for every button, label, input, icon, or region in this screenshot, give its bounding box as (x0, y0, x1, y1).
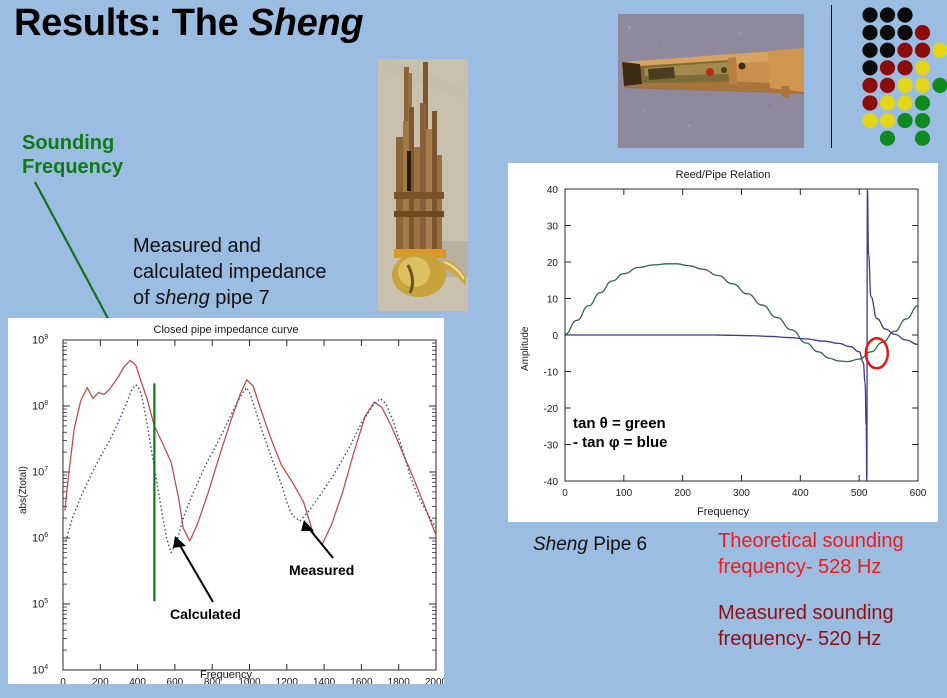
y-tick-label: 10 (547, 295, 559, 306)
logo-dot (880, 95, 895, 110)
x-tick-label: 500 (851, 488, 868, 499)
logo-dot (897, 25, 912, 40)
logo-dot (897, 60, 912, 75)
logo-dot (915, 95, 930, 110)
y-tick-label: 20 (547, 258, 559, 269)
logo-dot (862, 43, 877, 58)
y-tick-label: 0 (552, 331, 558, 342)
sounding-frequency-callout: Sounding Frequency (22, 132, 123, 179)
logo-dot (915, 113, 930, 128)
sounding-frequency-line1: Sounding (22, 132, 123, 156)
sheng-pipe-rest: Pipe 6 (588, 534, 647, 555)
y-tick-label: -10 (544, 368, 559, 379)
x-tick-label: 1000 (238, 677, 261, 684)
x-tick-label: 600 (910, 488, 927, 499)
x-tick-label: 100 (615, 488, 632, 499)
x-tick-label: 1200 (276, 677, 299, 684)
x-tick-label: 300 (733, 488, 750, 499)
vertical-divider (831, 5, 832, 148)
impedance-caption: Measured and calculated impedance of she… (133, 234, 326, 311)
x-tick-label: 1400 (313, 677, 336, 684)
y-tick-label: 40 (547, 185, 559, 196)
data-series-line (66, 385, 436, 553)
y-tick-label: -40 (544, 477, 559, 488)
logo-dot (862, 60, 877, 75)
logo-dot (897, 95, 912, 110)
logo-dot (897, 7, 912, 22)
data-series-line (565, 264, 918, 362)
logo-dot (880, 131, 895, 146)
logo-dot (862, 7, 877, 22)
impedance-caption-line2: calculated impedance (133, 260, 326, 286)
logo-dot (880, 113, 895, 128)
data-series-line (65, 360, 436, 544)
logo-dot (897, 78, 912, 93)
sounding-frequency-line2: Frequency (22, 156, 123, 180)
x-tick-label: 800 (204, 677, 221, 684)
logo-dot (915, 43, 930, 58)
logo-dot (880, 60, 895, 75)
measured-line2: frequency- 520 Hz (718, 626, 894, 652)
impedance-caption-line3: of sheng pipe 7 (133, 286, 326, 312)
theoretical-frequency-text: Theoretical sounding frequency- 528 Hz (718, 528, 904, 580)
x-tick-label: 200 (92, 677, 109, 684)
x-tick-label: 0 (60, 677, 66, 684)
impedance-caption-line1: Measured and (133, 234, 326, 260)
logo-dot (897, 43, 912, 58)
caption-line3-prefix: of (133, 287, 155, 309)
x-tick-label: 600 (167, 677, 184, 684)
data-series-line (565, 189, 918, 481)
x-tick-label: 400 (792, 488, 809, 499)
logo-dot (915, 25, 930, 40)
presentation-slide: Results: The Sheng Sounding Frequency Me… (0, 0, 947, 698)
sheng-pipe-caption: Sheng Pipe 6 (533, 534, 647, 556)
logo-dot (880, 78, 895, 93)
chart-left-plot: 0200400600800100012001400160018002000 (8, 318, 444, 684)
dot-grid-logo (862, 6, 947, 152)
theoretical-line2: frequency- 528 Hz (718, 554, 904, 580)
y-tick-label: -20 (544, 404, 559, 415)
logo-dot (880, 25, 895, 40)
intersection-marker-circle (866, 338, 888, 368)
x-tick-label: 400 (129, 677, 146, 684)
page-title: Results: The Sheng (14, 2, 363, 45)
measured-frequency-text: Measured sounding frequency- 520 Hz (718, 600, 894, 652)
theoretical-line1: Theoretical sounding (718, 528, 904, 554)
logo-dot (880, 43, 895, 58)
logo-dot (915, 131, 930, 146)
reed-pipe-relation-chart: Reed/Pipe Relation Amplitude Frequency t… (508, 163, 938, 522)
sheng-pipe-italic: Sheng (533, 534, 588, 555)
caption-line3-suffix: pipe 7 (210, 287, 270, 309)
y-tick-label: -30 (544, 441, 559, 452)
sheng-instrument-photo (378, 59, 468, 311)
logo-dot (862, 25, 877, 40)
logo-dot (897, 113, 912, 128)
title-prefix: Results: The (14, 2, 249, 44)
logo-dot (862, 113, 877, 128)
caption-line3-italic: sheng (155, 287, 210, 309)
chart-right-plot: -40-30-20-100102030400100200300400500600 (508, 163, 938, 522)
x-tick-label: 2000 (425, 677, 444, 684)
title-italic-word: Sheng (249, 2, 364, 44)
logo-dot (915, 78, 930, 93)
closed-pipe-impedance-chart: Closed pipe impedance curve abs(Ztotal) … (8, 318, 444, 684)
logo-dot (862, 95, 877, 110)
logo-dot (932, 78, 947, 93)
y-tick-label: 30 (547, 222, 559, 233)
x-tick-label: 200 (674, 488, 691, 499)
x-tick-label: 1600 (350, 677, 373, 684)
logo-dot (915, 60, 930, 75)
logo-dot (880, 7, 895, 22)
measured-line1: Measured sounding (718, 600, 894, 626)
logo-dot (862, 78, 877, 93)
logo-dot (932, 43, 947, 58)
x-tick-label: 0 (562, 488, 568, 499)
sheng-reed-closeup-photo (618, 14, 804, 148)
x-tick-label: 1800 (388, 677, 411, 684)
annotation-arrow-calculated (178, 542, 213, 602)
